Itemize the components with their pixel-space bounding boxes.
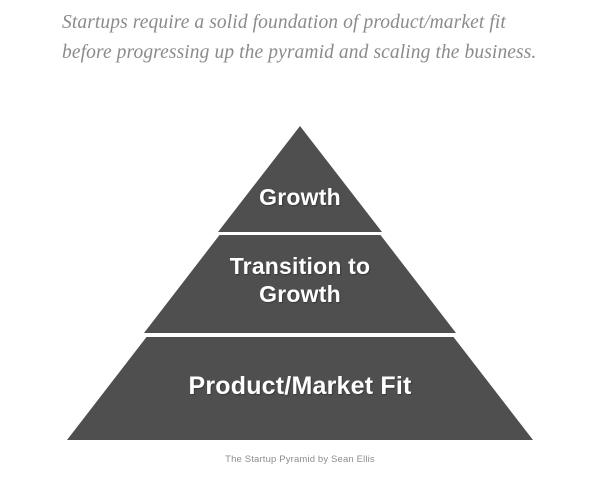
pyramid-tier-product-market-fit[interactable] [67, 337, 533, 440]
pyramid-tier-transition-to-growth[interactable] [144, 235, 456, 333]
headline-text: Startups require a solid foundation of p… [62, 8, 582, 68]
pyramid-tier-growth[interactable] [218, 126, 382, 232]
footer-caption: The Startup Pyramid by Sean Ellis [0, 454, 600, 465]
pyramid-shape [0, 110, 600, 450]
startup-pyramid-diagram: Growth Transition to Growth Product/Mark… [0, 110, 600, 450]
